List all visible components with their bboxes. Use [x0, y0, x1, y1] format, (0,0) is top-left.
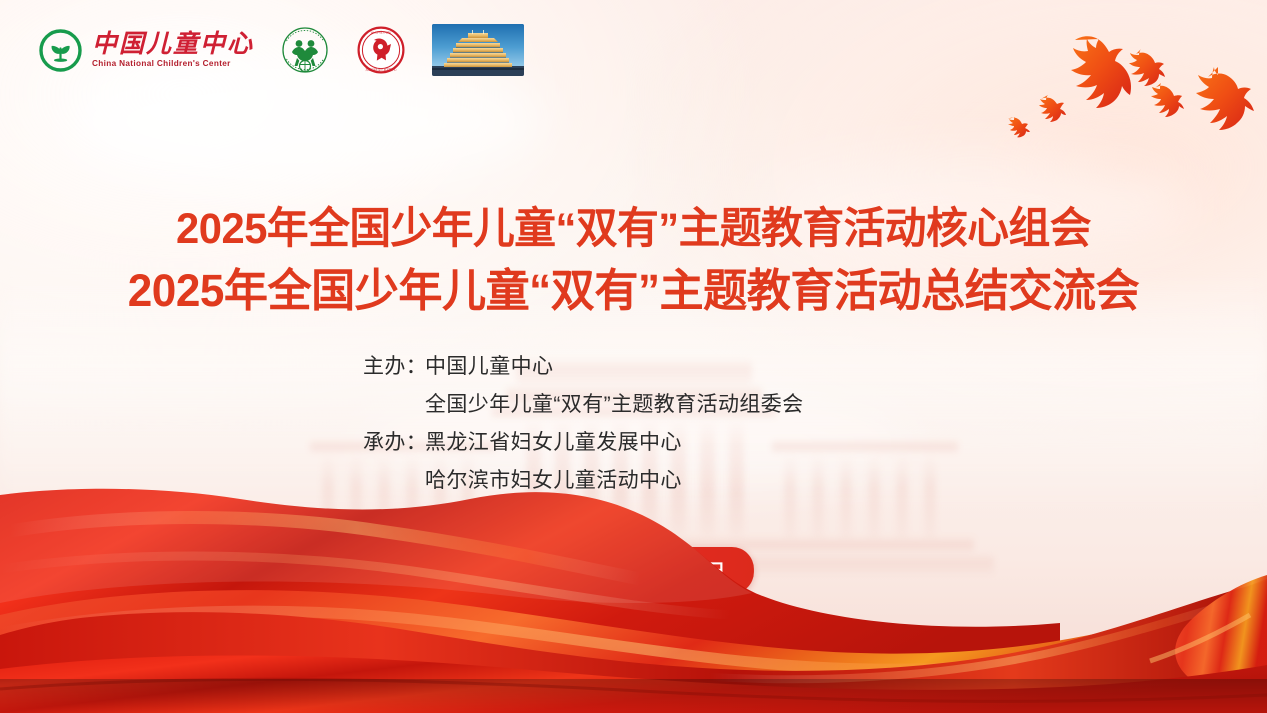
- organizer-value: 黑龙江省妇女儿童发展中心: [425, 424, 682, 462]
- cncc-wordmark: 中国儿童中心 China National Children's Center: [92, 31, 254, 68]
- organizer-label: 承办：: [363, 424, 425, 462]
- organizer-row: 承办： 黑龙江省妇女儿童发展中心: [363, 424, 804, 462]
- organizer-row: 全国少年儿童“双有”主题教育活动组委会: [363, 386, 804, 424]
- green-circle-children-emblem-icon: [280, 25, 330, 75]
- organizer-block: 主办： 中国儿童中心 全国少年儿童“双有”主题教育活动组委会 承办： 黑龙江省妇…: [363, 348, 804, 500]
- title-block: 2025年全国少年儿童“双有”主题教育活动核心组会 2025年全国少年儿童“双有…: [0, 202, 1267, 320]
- page-title-line-1: 2025年全国少年儿童“双有”主题教育活动核心组会: [19, 202, 1248, 257]
- building-photo-thumbnail: [432, 24, 524, 76]
- cncc-chinese-name: 中国儿童中心: [92, 31, 254, 56]
- event-banner: 中国儿童中心 China National Children's Center: [0, 0, 1267, 713]
- svg-text:黑龙江省妇女儿童发展中心: 黑龙江省妇女儿童发展中心: [365, 67, 397, 71]
- organizer-row: 哈尔滨市妇女儿童活动中心: [363, 462, 804, 500]
- organizer-row: 主办： 中国儿童中心: [363, 348, 804, 386]
- date-badge: 2025年10月20日-24日: [513, 547, 753, 594]
- organizer-value: 哈尔滨市妇女儿童活动中心: [425, 462, 682, 500]
- organizer-value: 全国少年儿童“双有”主题教育活动组委会: [425, 386, 804, 424]
- cncc-english-name: China National Children's Center: [92, 60, 254, 68]
- green-circle-sprout-icon: [38, 28, 83, 73]
- organizer-value: 中国儿童中心: [425, 348, 553, 386]
- organizer-label: 主办：: [363, 348, 425, 386]
- page-title-line-2: 2025年全国少年儿童“双有”主题教育活动总结交流会: [13, 262, 1255, 320]
- logo-china-national-childrens-center: 中国儿童中心 China National Children's Center: [38, 28, 254, 73]
- red-circle-star-emblem-icon: HLJSFNEYFZZX 黑龙江省妇女儿童发展中心: [356, 25, 406, 75]
- svg-text:HLJSFNEYFZZX: HLJSFNEYFZZX: [371, 30, 391, 34]
- logo-strip: 中国儿童中心 China National Children's Center: [38, 22, 524, 78]
